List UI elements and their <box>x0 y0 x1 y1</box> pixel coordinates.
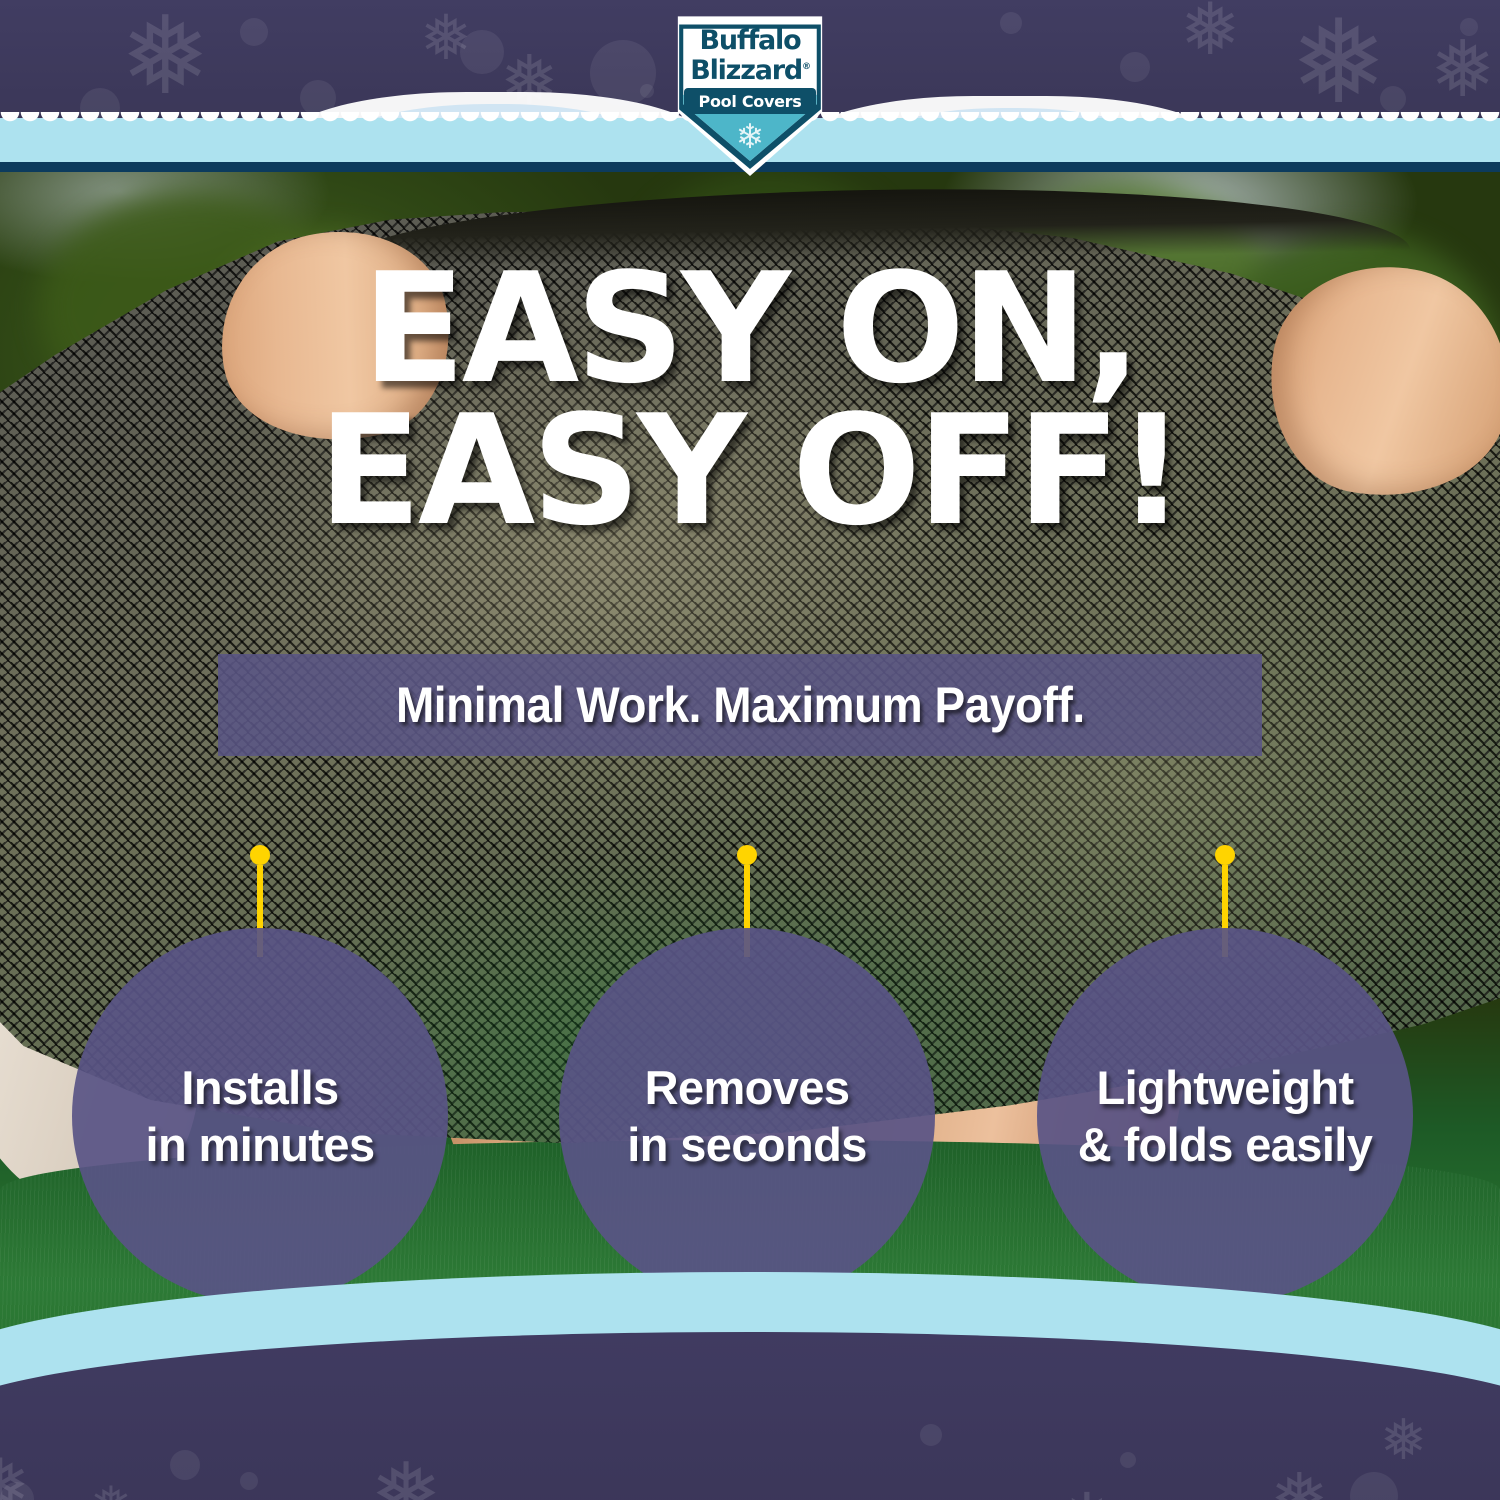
snowflake-icon: ❅ <box>1270 1464 1329 1500</box>
bubble-decor <box>640 84 654 98</box>
logo-name-line2: Blizzard® <box>668 54 832 84</box>
page-title: EASY ON, EASY OFF! <box>0 258 1500 542</box>
feature-3-line-2: & folds easily <box>1078 1116 1373 1173</box>
bubble-decor <box>240 1472 258 1490</box>
logo-wordmark: Buffalo Blizzard® <box>668 28 832 84</box>
bubble-decor <box>1380 86 1406 112</box>
bubble-decor <box>1000 12 1022 34</box>
feature-1-line-1: Installs <box>181 1059 338 1116</box>
poster: ❅❅❅❅❅❅❅ Buffalo Blizzard® Pool Covers <box>0 0 1500 1500</box>
snowflake-icon: ❅ <box>370 1452 442 1500</box>
snowflake-icon: ❅ <box>120 2 211 110</box>
registered-mark-icon: ® <box>802 62 810 72</box>
bubble-decor <box>240 18 268 46</box>
pin-dot-icon <box>737 845 757 865</box>
feature-2-line-2: in seconds <box>627 1116 867 1173</box>
snowflake-icon: ❅ <box>90 1480 132 1500</box>
logo-buffalo-blizzard[interactable]: Buffalo Blizzard® Pool Covers ❄ <box>668 8 832 176</box>
subtitle-text: Minimal Work. Maximum Payoff. <box>396 676 1085 734</box>
bubble-decor <box>1120 52 1150 82</box>
pin-dot-icon <box>1215 845 1235 865</box>
footer-purple-panel: ❅❅❅❅❅❅ <box>0 1332 1500 1500</box>
bubble-decor <box>170 1450 200 1480</box>
snowflake-icon: ❅ <box>1290 4 1387 120</box>
bubble-decor <box>920 1424 942 1446</box>
bubble-decor <box>460 30 504 74</box>
logo-tagline-banner: Pool Covers <box>684 88 816 114</box>
logo-tagline: Pool Covers <box>699 92 802 111</box>
bubble-decor <box>1120 1452 1136 1468</box>
footer-band: ❅❅❅❅❅❅ <box>0 1250 1500 1500</box>
feature-1-line-2: in minutes <box>145 1116 374 1173</box>
feature-3-line-1: Lightweight <box>1096 1059 1353 1116</box>
feature-circle-removes[interactable]: Removes in seconds <box>559 928 935 1304</box>
snowflake-icon: ❄ <box>668 120 832 154</box>
snowflake-icon: ❅ <box>1430 30 1495 108</box>
snowflake-icon: ❅ <box>1380 1412 1427 1468</box>
feature-circle-lightweight[interactable]: Lightweight & folds easily <box>1037 928 1413 1304</box>
header-band: ❅❅❅❅❅❅❅ Buffalo Blizzard® Pool Covers <box>0 0 1500 178</box>
feature-2-line-1: Removes <box>645 1059 850 1116</box>
snowflake-icon: ❅ <box>1180 0 1240 66</box>
headline-line-2: EASY OFF! <box>0 400 1500 542</box>
snowflake-icon: ❅ <box>1050 1482 1124 1500</box>
pin-dot-icon <box>250 845 270 865</box>
subtitle-banner: Minimal Work. Maximum Payoff. <box>218 654 1262 756</box>
bubble-decor <box>1350 1472 1398 1500</box>
logo-name-line1: Buffalo <box>668 28 832 54</box>
feature-circle-installs[interactable]: Installs in minutes <box>72 928 448 1304</box>
bubble-decor <box>1460 18 1478 36</box>
